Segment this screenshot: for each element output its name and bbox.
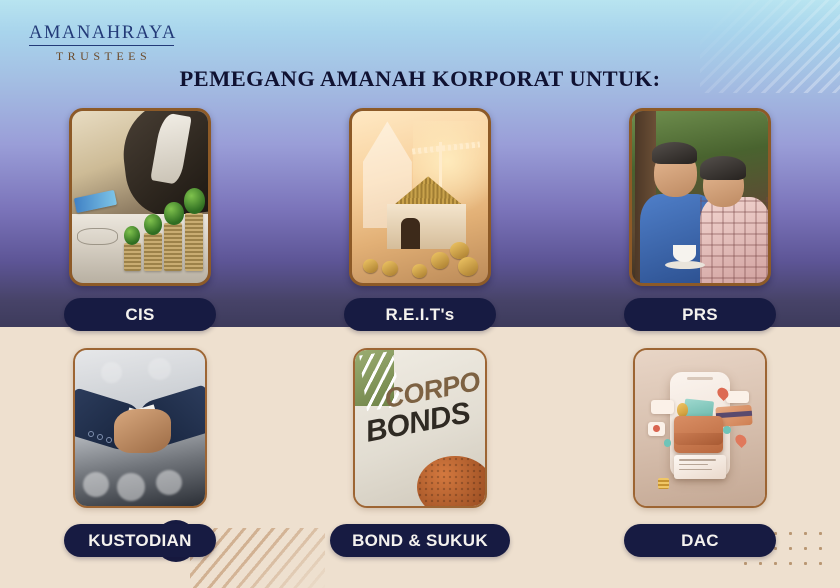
card-image-reits bbox=[349, 108, 491, 286]
card-label-dac[interactable]: DAC bbox=[624, 524, 776, 557]
logo-brand-subtitle: TRUSTEES bbox=[29, 46, 174, 62]
card-label-cis[interactable]: CIS bbox=[64, 298, 216, 331]
card-label-reits[interactable]: R.E.I.T's bbox=[344, 298, 496, 331]
bottom-row: KUSTODIAN CORPO BONDS BOND & SUKUK bbox=[0, 348, 840, 557]
hands-with-coin-stacks-and-plants-icon bbox=[72, 111, 208, 283]
card-image-bond-sukuk: CORPO BONDS bbox=[353, 348, 487, 508]
amanahraya-logo: AMANAHRAYA TRUSTEES bbox=[29, 24, 174, 62]
elderly-couple-with-teacup-icon bbox=[632, 111, 768, 283]
card-prs[interactable]: PRS bbox=[560, 108, 840, 331]
house-with-crane-and-coins-icon bbox=[352, 111, 488, 283]
page-title: PEMEGANG AMANAH KORPORAT UNTUK: bbox=[0, 66, 840, 92]
logo-brand-name: AMANAHRAYA bbox=[29, 24, 174, 46]
card-bond-sukuk[interactable]: CORPO BONDS BOND & SUKUK bbox=[280, 348, 560, 557]
top-row: CIS R.E. bbox=[0, 108, 840, 331]
card-cis[interactable]: CIS bbox=[0, 108, 280, 331]
card-image-dac bbox=[633, 348, 767, 508]
card-kustodian[interactable]: KUSTODIAN bbox=[0, 348, 280, 557]
card-label-prs[interactable]: PRS bbox=[624, 298, 776, 331]
business-handshake-icon bbox=[75, 350, 205, 506]
card-dac[interactable]: DAC bbox=[560, 348, 840, 557]
card-label-kustodian[interactable]: KUSTODIAN bbox=[64, 524, 216, 557]
card-label-bond-sukuk[interactable]: BOND & SUKUK bbox=[330, 524, 510, 557]
card-image-kustodian bbox=[73, 348, 207, 508]
digital-wallet-phone-icon bbox=[635, 350, 765, 506]
corporate-bonds-notebook-icon: CORPO BONDS bbox=[355, 350, 485, 506]
card-image-prs bbox=[629, 108, 771, 286]
card-reits[interactable]: R.E.I.T's bbox=[280, 108, 560, 331]
poster-canvas: AMANAHRAYA TRUSTEES PEMEGANG AMANAH KORP… bbox=[0, 0, 840, 588]
card-image-cis bbox=[69, 108, 211, 286]
